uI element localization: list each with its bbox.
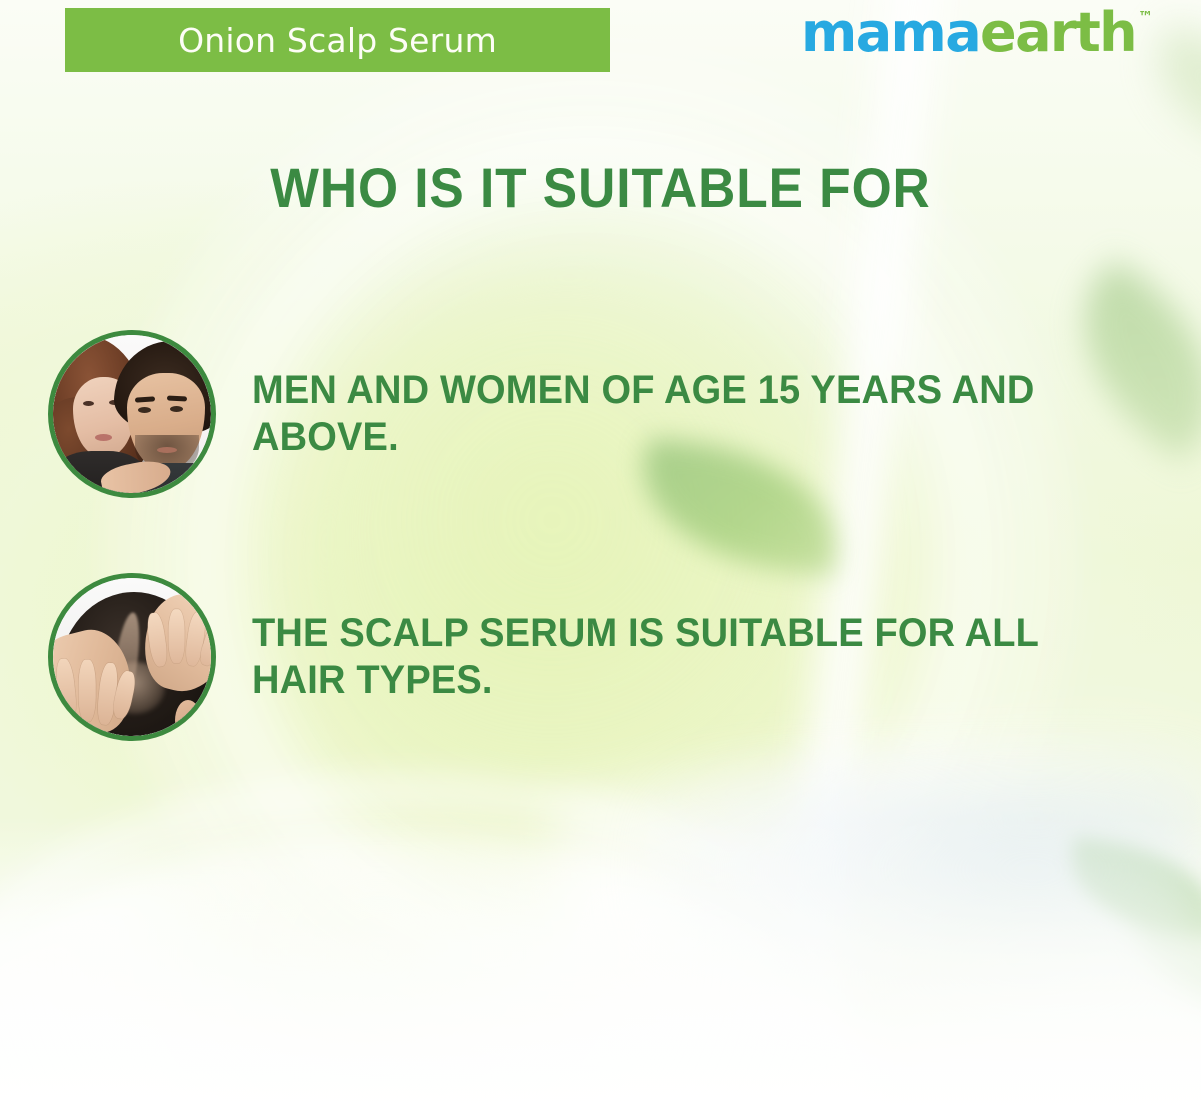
brand-logo-earth-text: earth: [980, 6, 1136, 60]
bullet-text: MEN AND WOMEN OF AGE 15 YEARS AND ABOVE.: [252, 367, 1134, 461]
trademark-icon: ™: [1138, 10, 1153, 25]
header: Onion Scalp Serum mama earth ™: [0, 0, 1201, 92]
scalp-photo-illustration: [53, 578, 211, 736]
bullet-photo-couple: [48, 330, 216, 498]
product-name-banner: Onion Scalp Serum: [65, 8, 610, 72]
background-bottom-fade: [0, 816, 1201, 1116]
brand-logo-mama-text: mama: [801, 6, 980, 60]
couple-photo-illustration: [53, 335, 211, 493]
bullet-photo-scalp: [48, 573, 216, 741]
infographic-poster: Onion Scalp Serum mama earth ™ WHO IS IT…: [0, 0, 1201, 1116]
page-title: WHO IS IT SUITABLE FOR: [48, 155, 1153, 220]
brand-logo: mama earth ™: [801, 6, 1153, 60]
product-name-label: Onion Scalp Serum: [178, 21, 497, 60]
bullet-text: THE SCALP SERUM IS SUITABLE FOR ALL HAIR…: [252, 610, 1134, 704]
list-item: THE SCALP SERUM IS SUITABLE FOR ALL HAIR…: [0, 573, 1180, 741]
list-item: MEN AND WOMEN OF AGE 15 YEARS AND ABOVE.: [0, 330, 1180, 498]
